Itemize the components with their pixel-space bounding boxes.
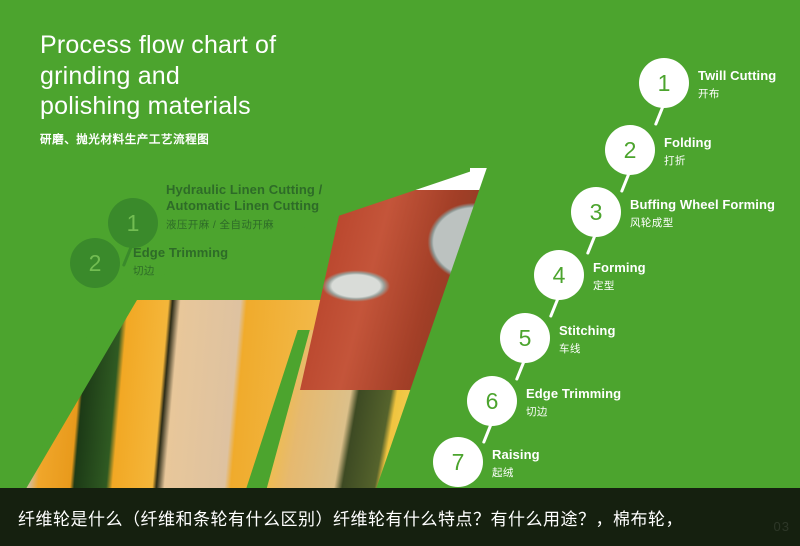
right-step-6-en: Edge Trimming <box>526 386 706 402</box>
right-step-1-en: Twill Cutting <box>698 68 800 84</box>
right-step-7-number: 7 <box>433 437 483 487</box>
left-step-1-zh: 液压开麻 / 全自动开麻 <box>166 217 366 232</box>
left-step-2-number: 2 <box>70 238 120 288</box>
right-step-3-zh: 风轮成型 <box>630 215 800 230</box>
right-step-6-label: Edge Trimming 切边 <box>526 386 706 419</box>
right-step-1-zh: 开布 <box>698 86 800 101</box>
left-step-1-number: 1 <box>108 198 158 248</box>
right-step-4-en: Forming <box>593 260 773 276</box>
right-step-1-number: 1 <box>639 58 689 108</box>
right-step-6-number: 6 <box>467 376 517 426</box>
page-number-watermark: 03 <box>774 519 790 534</box>
caption-text: 纤维轮是什么（纤维和条轮有什么区别）纤维轮有什么特点？有什么用途？，棉布轮， <box>0 505 683 530</box>
right-step-5-en: Stitching <box>559 323 739 339</box>
right-step-7-zh: 起绒 <box>492 465 672 480</box>
right-step-2-label: Folding 打折 <box>664 135 800 168</box>
left-step-2-zh: 切边 <box>133 263 323 278</box>
caption-bar: 纤维轮是什么（纤维和条轮有什么区别）纤维轮有什么特点？有什么用途？，棉布轮， 0… <box>0 488 800 546</box>
page-subtitle: 研磨、抛光材料生产工艺流程图 <box>40 131 276 147</box>
right-step-3-number: 3 <box>571 187 621 237</box>
right-step-5-zh: 车线 <box>559 341 739 356</box>
page-title: Process flow chart of grinding and polis… <box>40 30 276 122</box>
right-step-7-label: Raising 起绒 <box>492 447 672 480</box>
right-step-4-zh: 定型 <box>593 278 773 293</box>
right-step-6-zh: 切边 <box>526 404 706 419</box>
process-flow-poster: Process flow chart of grinding and polis… <box>0 0 800 546</box>
right-step-2-zh: 打折 <box>664 153 800 168</box>
right-step-3-label: Buffing Wheel Forming 风轮成型 <box>630 197 800 230</box>
right-step-4-label: Forming 定型 <box>593 260 773 293</box>
left-step-1-label: Hydraulic Linen Cutting / Automatic Line… <box>166 182 366 232</box>
right-step-5-number: 5 <box>500 313 550 363</box>
right-step-7-en: Raising <box>492 447 672 463</box>
headline-block: Process flow chart of grinding and polis… <box>40 30 276 147</box>
right-step-1-label: Twill Cutting 开布 <box>698 68 800 101</box>
right-step-2-number: 2 <box>605 125 655 175</box>
right-step-3-en: Buffing Wheel Forming <box>630 197 800 213</box>
right-step-4-number: 4 <box>534 250 584 300</box>
right-step-5-label: Stitching 车线 <box>559 323 739 356</box>
right-step-2-en: Folding <box>664 135 800 151</box>
left-step-2-en: Edge Trimming <box>133 245 323 261</box>
left-step-1-en: Hydraulic Linen Cutting / Automatic Line… <box>166 182 366 215</box>
left-step-2-label: Edge Trimming 切边 <box>133 245 323 278</box>
